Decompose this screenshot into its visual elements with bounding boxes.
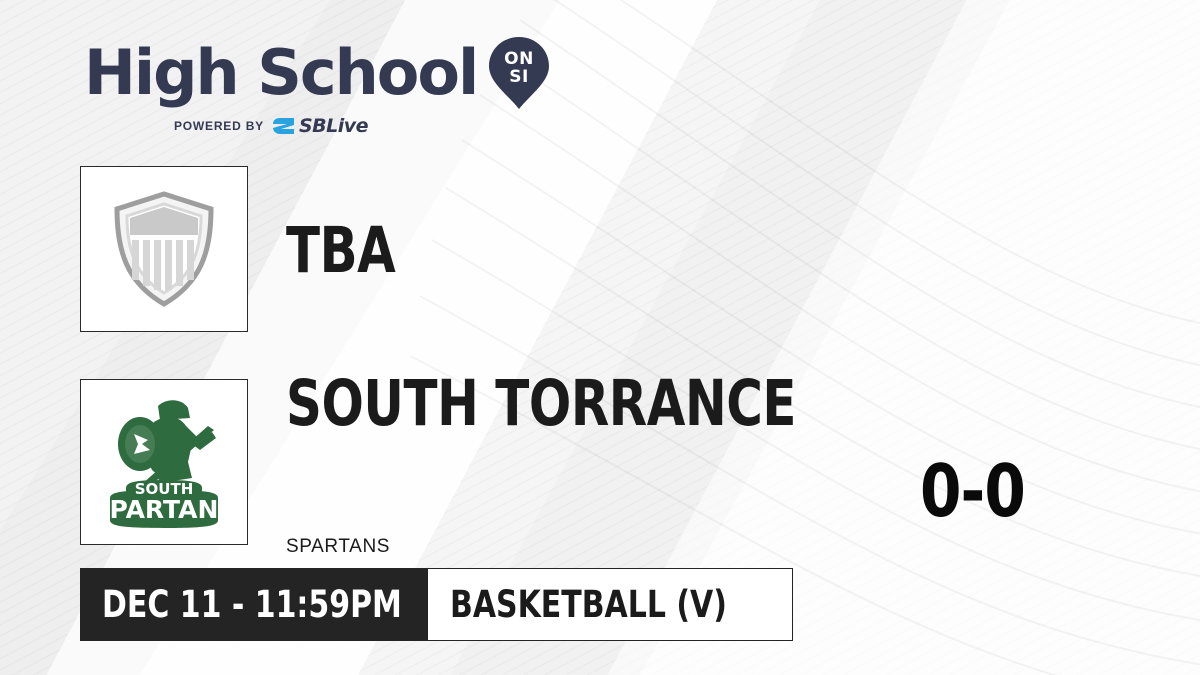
sblive-s-icon — [272, 116, 296, 136]
away-team-logo-box — [80, 166, 248, 332]
location-pin-icon: ON SI — [487, 36, 551, 110]
placeholder-shield-icon — [112, 191, 216, 307]
home-team-name: SOUTH TORRANCE — [286, 372, 796, 435]
svg-text:ON: ON — [504, 49, 534, 69]
home-team-mascot: SPARTANS — [286, 536, 390, 558]
brand-logo-row: High School ON SI — [84, 36, 504, 110]
game-datetime-panel: DEC 11 - 11:59PM — [80, 568, 428, 641]
game-sport-label: BASKETBALL (V) — [450, 586, 727, 623]
home-team-logo-box: SOUTH SPARTANS — [80, 379, 248, 545]
logo-text-main: SPARTANS — [96, 495, 232, 524]
game-sport-panel: BASKETBALL (V) — [428, 568, 793, 641]
score-display: 0-0 — [920, 455, 1025, 527]
powered-by-row: POWERED BY SBLive — [38, 116, 504, 136]
sblive-wordmark: SBLive — [299, 117, 368, 136]
scoreboard-graphic: High School ON SI POWERED BY SBLive — [0, 0, 1200, 675]
away-team-name: TBA — [286, 219, 395, 282]
powered-by-label: POWERED BY — [174, 119, 264, 133]
svg-text:SI: SI — [509, 67, 529, 87]
page-title: High School — [84, 42, 477, 104]
sblive-logo: SBLive — [272, 116, 368, 136]
south-spartans-logo-icon: SOUTH SPARTANS — [96, 392, 232, 532]
brand-header: High School ON SI POWERED BY SBLive — [84, 36, 504, 136]
game-datetime-label: DEC 11 - 11:59PM — [102, 586, 402, 623]
game-info-bar: DEC 11 - 11:59PM BASKETBALL (V) — [80, 568, 793, 641]
